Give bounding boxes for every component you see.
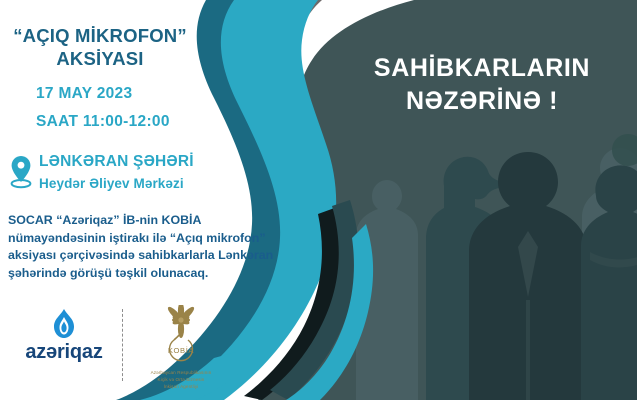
kobia-mark-label: KOBİA [168, 346, 195, 355]
gas-flame-icon [51, 309, 77, 339]
event-date: 17 MAY 2023 [36, 86, 170, 102]
azeriqaz-logo: azəriqaz [10, 305, 118, 362]
main-headline: SAHİBKARLARIN NƏZƏRİNƏ ! [341, 52, 623, 118]
event-title: “AÇIQ MİKROFON” AKSİYASI [0, 24, 200, 70]
kobia-tagline: Azərbaycan Respublikasının Kiçik və Orta… [135, 370, 227, 391]
description-line-1: SOCAR “Azəriqaz” İB-nin KOBİA [8, 212, 263, 230]
description-line-2: nümayəndəsinin iştirakı ilə “Açıq mikrof… [8, 230, 263, 248]
headline-line-1: SAHİBKARLARIN [341, 52, 623, 85]
venue-text: LƏNKƏRAN ŞƏHƏRİ Heydər Əliyev Mərkəzi [39, 152, 194, 191]
event-title-line-1: “AÇIQ MİKROFON” [0, 24, 200, 47]
venue-city: LƏNKƏRAN ŞƏHƏRİ [39, 154, 194, 170]
kobia-flower-icon: KOBİA [151, 305, 211, 367]
kobia-tagline-line-2: Kiçik və Orta Biznesin [135, 377, 227, 384]
left-content-column: “AÇIQ MİKROFON” AKSİYASI 17 MAY 2023 SAA… [0, 0, 268, 400]
description-line-3: aksiyası çərçivəsində sahibkarlarla Lənk… [8, 247, 263, 265]
venue-place: Heydər Əliyev Mərkəzi [39, 177, 194, 191]
logo-divider [122, 309, 123, 381]
event-time: SAAT 11:00-12:00 [36, 114, 170, 130]
event-title-line-2: AKSİYASI [0, 47, 200, 70]
sponsor-logos: azəriqaz K [10, 305, 227, 391]
poster-canvas: “AÇIQ MİKROFON” AKSİYASI 17 MAY 2023 SAA… [0, 0, 637, 400]
kobia-tagline-line-1: Azərbaycan Respublikasının [135, 370, 227, 377]
kobia-tagline-line-3: İnkişafı Agentliyi [135, 384, 227, 391]
location-pin-icon [10, 155, 32, 189]
event-datetime: 17 MAY 2023 SAAT 11:00-12:00 [36, 86, 170, 129]
event-venue: LƏNKƏRAN ŞƏHƏRİ Heydər Əliyev Mərkəzi [10, 152, 194, 191]
kobia-logo: KOBİA Azərbaycan Respublikasının Kiçik v… [135, 305, 227, 391]
headline-line-2: NƏZƏRİNƏ ! [341, 85, 623, 118]
event-description: SOCAR “Azəriqaz” İB-nin KOBİA nümayəndəs… [8, 212, 263, 282]
description-line-4: şəhərində görüşü təşkil olunacaq. [8, 265, 263, 283]
azeriqaz-wordmark: azəriqaz [10, 342, 118, 362]
